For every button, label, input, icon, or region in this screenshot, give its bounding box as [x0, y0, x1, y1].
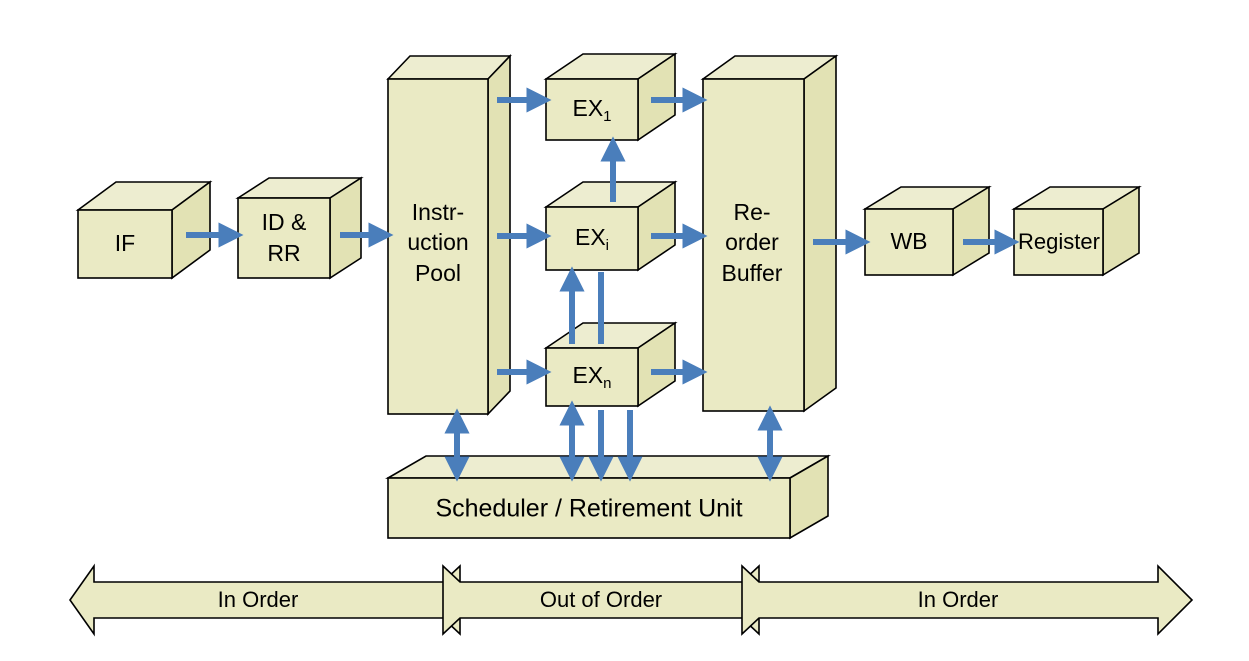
box-register-label: Register: [1018, 229, 1100, 254]
box-if: IF: [78, 182, 210, 278]
band-out-of-order-label: Out of Order: [540, 587, 662, 612]
box-id-rr: ID & RR: [238, 178, 361, 278]
box-instruction-pool-label-line3: Pool: [415, 260, 461, 286]
box-if-label: IF: [115, 230, 135, 256]
box-reorder-buffer-label-line2: order: [725, 229, 779, 255]
box-ex-n: EXn: [546, 323, 675, 406]
box-ex-i-label: EXi: [575, 224, 609, 254]
box-reorder-buffer: Re- order Buffer: [703, 56, 836, 411]
box-id-rr-label-line2: RR: [267, 240, 300, 266]
box-id-rr-label-line1: ID &: [262, 209, 307, 235]
box-register: Register: [1014, 187, 1139, 275]
box-wb: WB: [865, 187, 989, 275]
box-reorder-buffer-label-line3: Buffer: [722, 260, 783, 286]
box-reorder-buffer-side: [804, 56, 836, 411]
box-reorder-buffer-label-line1: Re-: [733, 199, 770, 225]
box-wb-label: WB: [890, 228, 927, 254]
pipeline-diagram: IF ID & RR Instr- uction Pool EX1 EXi EX…: [0, 0, 1249, 661]
band-in-order-left-label: In Order: [218, 587, 299, 612]
box-instruction-pool: Instr- uction Pool: [388, 56, 510, 414]
band-in-order-right-label: In Order: [918, 587, 999, 612]
box-scheduler-label: Scheduler / Retirement Unit: [435, 495, 742, 523]
diagram-canvas: IF ID & RR Instr- uction Pool EX1 EXi EX…: [0, 0, 1249, 661]
box-instruction-pool-label-line2: uction: [407, 229, 468, 255]
box-instruction-pool-label-line1: Instr-: [412, 199, 464, 225]
